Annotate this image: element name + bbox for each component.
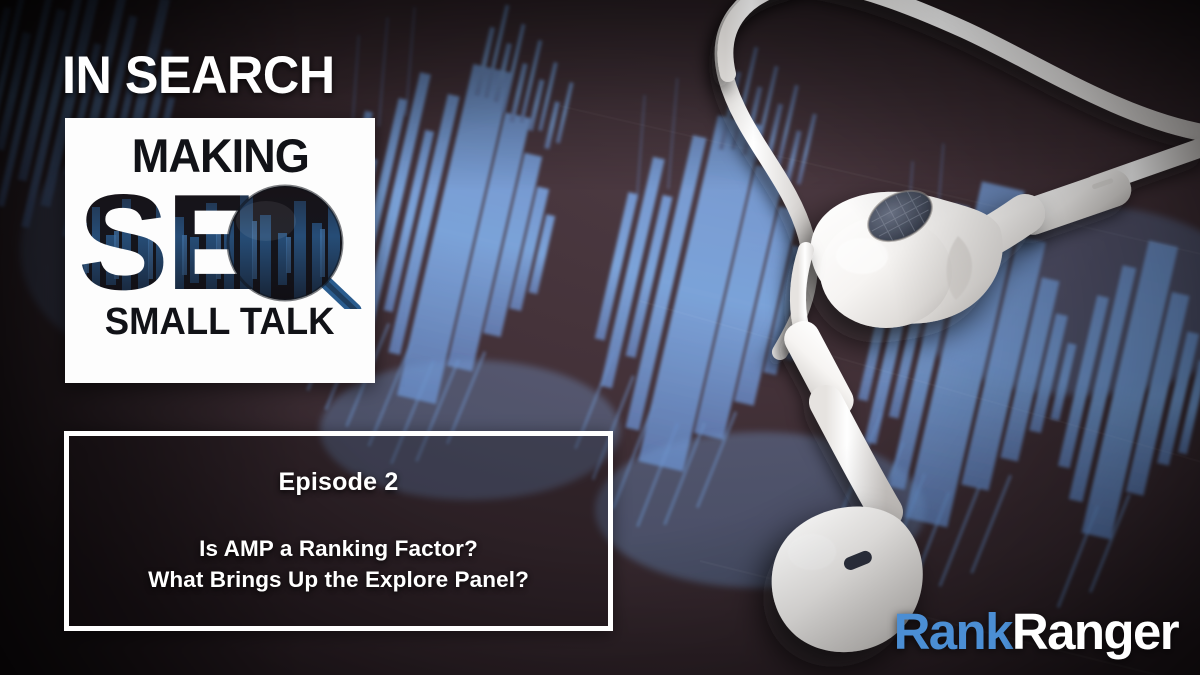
logo-line-making: MAKING: [131, 132, 308, 179]
podcast-cover-artwork: IN SEARCH MAKING: [0, 0, 1200, 675]
brand-name-ranger: Ranger: [1012, 603, 1178, 660]
show-title: IN SEARCH: [62, 48, 335, 104]
episode-topic-list: Is AMP a Ranking Factor? What Brings Up …: [148, 533, 529, 595]
logo-line-small-talk: SMALL TALK: [105, 303, 335, 341]
show-logo-panel: MAKING: [65, 118, 375, 383]
episode-topic: What Brings Up the Explore Panel?: [148, 564, 529, 595]
rank-ranger-logo: RankRanger: [894, 605, 1178, 659]
episode-number: Episode 2: [279, 468, 399, 497]
logo-seo-lockup: S E: [70, 177, 370, 309]
episode-topic: Is AMP a Ranking Factor?: [148, 533, 529, 564]
brand-name-rank: Rank: [894, 603, 1012, 660]
episode-info-box: Episode 2 Is AMP a Ranking Factor? What …: [64, 431, 613, 631]
